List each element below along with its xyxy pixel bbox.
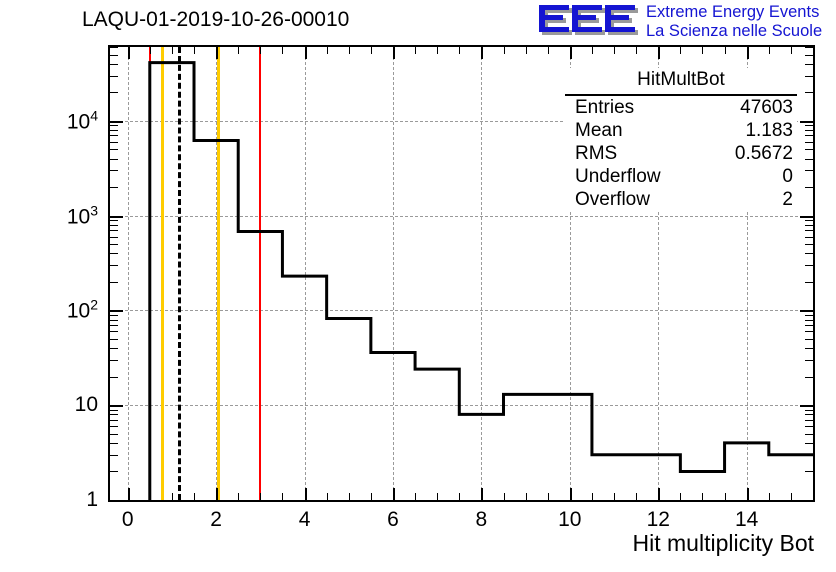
x-axis-tick [481,47,483,59]
x-axis-tick [548,47,549,54]
y-axis-tick [805,434,813,435]
x-tick-label: 4 [299,508,311,532]
y-axis-tick [110,47,118,48]
y-axis-tick [805,414,813,415]
y-axis-tick [805,130,813,131]
y-tick-label: 103 [30,202,98,229]
x-axis-tick [327,493,328,500]
x-axis-tick [305,47,307,59]
y-axis-tick [110,405,123,407]
x-axis-title: Hit multiplicity Bot [633,530,814,557]
y-axis-tick [110,170,118,171]
x-axis-tick [791,47,792,54]
x-axis-tick [504,47,505,54]
y-axis-tick [110,121,123,123]
y-axis-tick [805,159,813,160]
y-axis-tick [110,282,118,283]
x-axis-tick [813,47,814,54]
stats-row-key: Mean [575,120,623,141]
y-axis-tick [110,216,123,218]
x-axis-tick [282,493,283,500]
y-axis-tick [805,265,813,266]
y-axis-tick [110,414,118,415]
x-axis-tick [725,47,726,54]
y-axis-tick [805,339,813,340]
y-axis-tick [110,443,118,444]
x-axis-tick [459,47,460,54]
y-axis-tick [805,244,813,245]
y-axis-tick [805,64,813,65]
x-axis-tick [570,488,572,500]
x-tick-label: 0 [122,508,134,532]
x-axis-tick [238,47,239,54]
stats-row: RMS0.5672 [565,142,797,165]
x-axis-tick [747,47,749,59]
y-axis-tick [800,405,813,407]
y-axis-tick [805,426,813,427]
y-axis-tick [805,325,813,326]
eee-logo-line-2: La Scienza nelle Scuole [646,22,822,41]
y-axis-tick [800,500,813,502]
x-axis-tick [393,488,395,500]
x-axis-tick [150,493,151,500]
y-axis-tick [110,237,118,238]
y-axis-tick [110,64,118,65]
y-axis-tick [805,253,813,254]
x-axis-tick [415,493,416,500]
y-axis-tick [110,455,118,456]
x-axis-tick [238,493,239,500]
x-axis-tick [216,47,218,59]
y-axis-tick [805,92,813,93]
x-axis-tick [128,488,130,500]
y-axis-tick [805,420,813,421]
x-axis-tick [813,493,814,500]
x-tick-label: 12 [647,508,670,532]
stats-row-value: 2 [782,189,793,210]
y-axis-tick [805,135,813,136]
y-axis-tick [110,76,118,77]
x-axis-tick [791,493,792,500]
y-axis-tick [805,471,813,472]
x-axis-tick [150,47,151,54]
y-axis-tick [110,360,118,361]
root-canvas: LAQU-01-2019-10-26-00010 [0,0,836,572]
y-axis-tick [110,315,118,316]
x-axis-tick [459,493,460,500]
y-axis-tick [110,410,118,411]
y-axis-tick [110,187,118,188]
y-axis-tick [110,244,118,245]
y-axis-tick [805,443,813,444]
x-axis-tick [570,47,572,59]
y-axis-tick [110,220,118,221]
y-axis-tick [110,149,118,150]
y-axis-tick [110,142,118,143]
y-axis-tick [805,410,813,411]
stats-row-key: Entries [575,97,634,118]
y-axis-tick [805,282,813,283]
eee-logo: Extreme Energy Events La Scienza nelle S… [536,2,834,42]
x-axis-tick [172,47,173,54]
y-axis-tick [110,420,118,421]
y-axis-tick [110,348,118,349]
x-axis-tick [371,47,372,54]
y-axis-tick [110,253,118,254]
y-axis-tick [110,130,118,131]
page-title: LAQU-01-2019-10-26-00010 [82,8,349,32]
y-axis-tick [110,225,118,226]
y-axis-tick [805,377,813,378]
y-axis-tick [805,142,813,143]
x-axis-tick [769,493,770,500]
y-axis-tick [805,237,813,238]
x-tick-label: 14 [735,508,758,532]
x-axis-tick [548,493,549,500]
y-axis-tick [805,170,813,171]
x-axis-tick [747,488,749,500]
stats-row-value: 0.5672 [735,143,793,164]
x-axis-tick [216,488,218,500]
x-axis-tick [128,47,130,59]
stats-row: Mean1.183 [565,119,797,142]
y-axis-tick [805,149,813,150]
x-axis-tick [702,47,703,54]
x-axis-tick [260,493,261,500]
y-axis-tick [805,187,813,188]
x-axis-tick [349,47,350,54]
stats-row-key: Underflow [575,166,661,187]
y-axis-tick [800,216,813,218]
x-axis-tick [194,47,195,54]
y-axis-tick [805,76,813,77]
x-axis-tick [526,47,527,54]
x-axis-tick [658,488,660,500]
y-axis-tick [805,220,813,221]
x-axis-tick [680,493,681,500]
y-axis-tick [800,310,813,312]
y-tick-label: 104 [30,107,98,134]
x-tick-label: 10 [558,508,581,532]
x-axis-tick [371,493,372,500]
x-axis-tick [194,493,195,500]
stats-box-rows: Entries47603Mean1.183RMS0.5672Underflow0… [565,96,797,211]
y-axis-tick [110,159,118,160]
y-axis-tick [110,434,118,435]
y-axis-tick [805,125,813,126]
y-axis-tick [805,360,813,361]
x-axis-tick [658,47,660,59]
x-axis-tick [437,493,438,500]
y-axis-tick [110,135,118,136]
eee-logo-mark-icon [536,2,640,40]
x-tick-label: 8 [476,508,488,532]
y-axis-tick [800,121,813,123]
x-axis-tick [592,493,593,500]
y-axis-tick [110,125,118,126]
stats-row-value: 1.183 [745,120,793,141]
x-axis-tick [393,47,395,59]
stats-row-value: 0 [782,166,793,187]
y-axis-tick [110,230,118,231]
x-axis-tick [769,47,770,54]
x-axis-tick [636,493,637,500]
y-tick-label: 1 [30,488,98,512]
stats-row-key: RMS [575,143,617,164]
x-axis-tick [305,488,307,500]
x-tick-label: 2 [210,508,222,532]
x-axis-tick [172,493,173,500]
y-axis-tick [805,315,813,316]
stats-row-key: Overflow [575,189,650,210]
x-axis-tick [349,493,350,500]
x-axis-tick [437,47,438,54]
y-axis-tick [110,426,118,427]
y-axis-tick [110,310,123,312]
y-axis-tick [805,230,813,231]
stats-row: Underflow0 [565,165,797,188]
y-axis-tick [110,339,118,340]
eee-logo-line-1: Extreme Energy Events [646,3,819,22]
y-axis-tick [110,325,118,326]
x-axis-tick [260,47,261,54]
x-axis-tick [702,493,703,500]
y-axis-tick [805,55,813,56]
x-axis-tick [614,493,615,500]
x-axis-tick [680,47,681,54]
y-axis-tick [110,331,118,332]
x-axis-tick [636,47,637,54]
y-axis-tick [110,265,118,266]
y-axis-tick [805,348,813,349]
x-axis-tick [415,47,416,54]
stats-row: Overflow2 [565,188,797,211]
stats-box: HitMultBot Entries47603Mean1.183RMS0.567… [565,68,797,211]
y-tick-label: 10 [30,393,98,417]
y-tick-label: 102 [30,297,98,324]
x-tick-label: 6 [387,508,399,532]
y-axis-tick [110,92,118,93]
y-axis-tick [110,55,118,56]
y-axis-tick [110,377,118,378]
x-axis-tick [725,493,726,500]
x-axis-tick [526,493,527,500]
y-axis-tick [805,320,813,321]
y-axis-tick [805,331,813,332]
x-axis-tick [504,493,505,500]
y-axis-tick [110,500,123,502]
stats-row-value: 47603 [740,97,793,118]
y-axis-tick [805,225,813,226]
stats-row: Entries47603 [565,96,797,119]
y-axis-tick [805,47,813,48]
y-axis-tick [110,320,118,321]
x-axis-tick [327,47,328,54]
x-axis-tick [592,47,593,54]
stats-box-title: HitMultBot [565,68,797,96]
x-axis-tick [614,47,615,54]
x-axis-tick [481,488,483,500]
y-axis-tick [805,455,813,456]
x-axis-tick [282,47,283,54]
y-axis-tick [110,471,118,472]
